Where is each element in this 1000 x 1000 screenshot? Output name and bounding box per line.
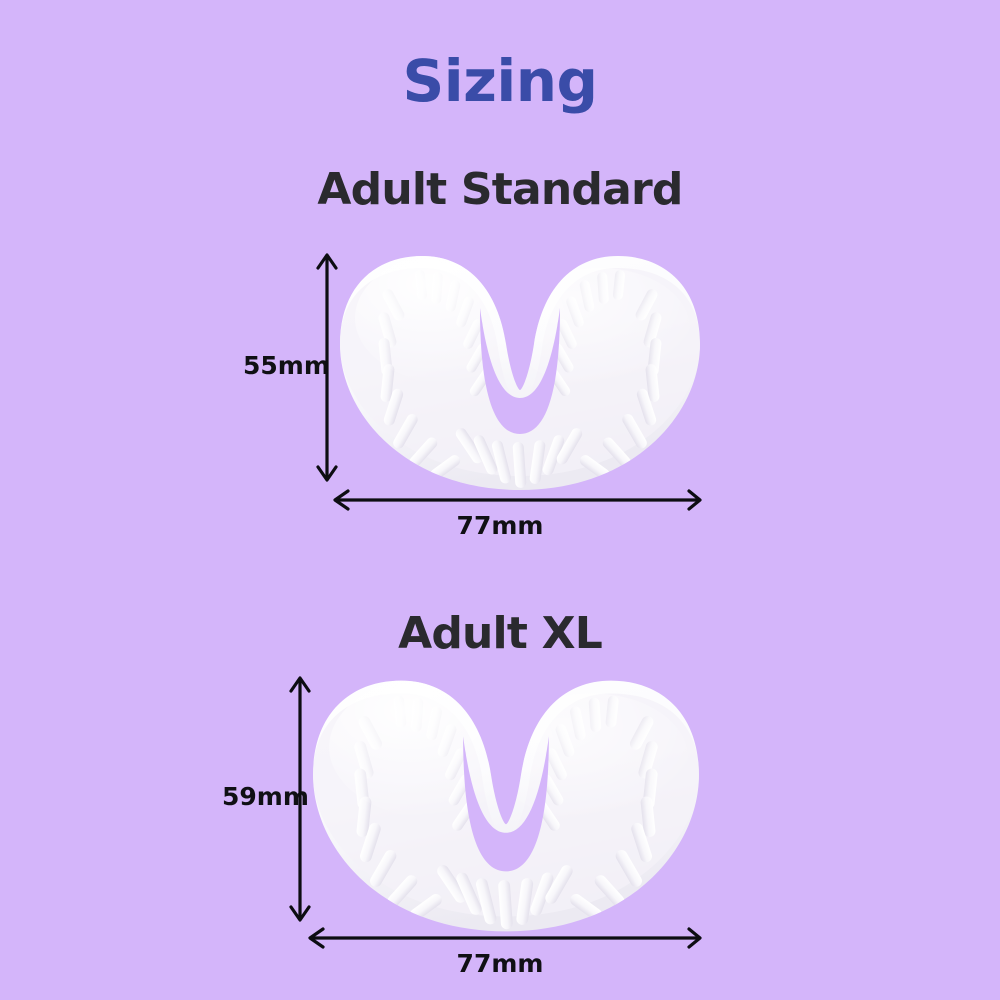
section-heading-adult-standard: Adult Standard xyxy=(0,168,1000,212)
width-label-adult-standard: 77mm xyxy=(0,513,1000,538)
height-label-adult-xl: 59mm xyxy=(222,784,309,809)
product-image-adult-standard xyxy=(330,248,710,498)
width-label-adult-xl: 77mm xyxy=(0,951,1000,976)
product-image-adult-xl xyxy=(300,672,712,940)
height-label-adult-standard: 55mm xyxy=(243,353,330,378)
page-title: Sizing xyxy=(0,52,1000,110)
sizing-infographic: Sizing Adult Standard xyxy=(0,0,1000,1000)
section-heading-adult-xl: Adult XL xyxy=(0,612,1000,656)
